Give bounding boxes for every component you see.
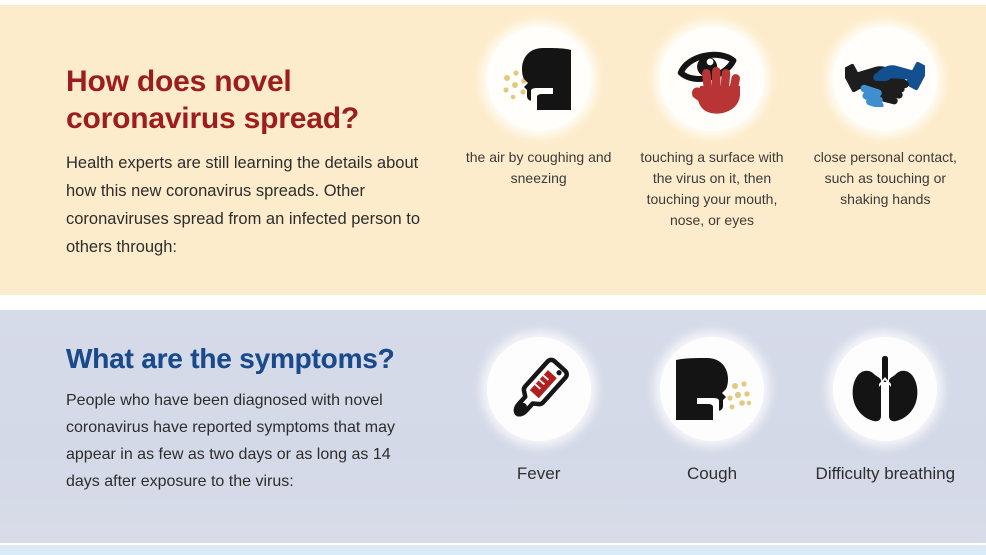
spread-caption-contact: close personal contact, such as touching… xyxy=(810,147,960,210)
spread-heading: How does novel coronavirus spread? xyxy=(66,63,436,137)
icon-circle xyxy=(833,337,937,441)
symptom-item-breathing: Difficulty breathing xyxy=(799,337,972,484)
symptom-caption-fever: Fever xyxy=(517,463,560,484)
spread-item-contact: close personal contact, such as touching… xyxy=(799,27,972,231)
symptom-item-fever: Fever xyxy=(452,337,625,484)
bottom-accent-band xyxy=(0,545,986,555)
symptoms-icons-row: Fever xyxy=(452,337,972,484)
spread-caption-air: the air by coughing and sneezing xyxy=(464,147,614,189)
symptom-item-cough: Cough xyxy=(625,337,798,484)
spread-caption-surface: touching a surface with the virus on it,… xyxy=(637,147,787,231)
symptoms-text-block: What are the symptoms? People who have b… xyxy=(66,342,426,495)
spread-body-text: Health experts are still learning the de… xyxy=(66,149,436,261)
spread-text-block: How does novel coronavirus spread? Healt… xyxy=(66,63,436,261)
eye-hand-touch-icon xyxy=(674,42,750,116)
section-what-are-the-symptoms: What are the symptoms? People who have b… xyxy=(0,310,986,543)
infographic-poster: How does novel coronavirus spread? Healt… xyxy=(0,0,986,555)
icon-circle xyxy=(487,27,591,131)
section-how-does-it-spread: How does novel coronavirus spread? Healt… xyxy=(0,5,986,295)
symptom-caption-cough: Cough xyxy=(687,463,737,484)
spread-item-surface: touching a surface with the virus on it,… xyxy=(625,27,798,231)
spread-item-air: the air by coughing and sneezing xyxy=(452,27,625,231)
cough-head-icon xyxy=(672,354,752,424)
section-divider xyxy=(0,295,986,310)
icon-circle xyxy=(487,337,591,441)
coughing-sneezing-head-icon xyxy=(501,44,577,114)
icon-circle xyxy=(833,27,937,131)
icon-circle xyxy=(660,27,764,131)
handshake-icon xyxy=(845,51,925,107)
spread-icons-row: the air by coughing and sneezing xyxy=(452,27,972,231)
icon-circle xyxy=(660,337,764,441)
symptoms-heading: What are the symptoms? xyxy=(66,342,395,375)
symptoms-body-text: People who have been diagnosed with nove… xyxy=(66,387,426,495)
thermometer-icon xyxy=(502,352,576,426)
lungs-icon xyxy=(849,354,921,424)
symptom-caption-breathing: Difficulty breathing xyxy=(816,463,956,484)
